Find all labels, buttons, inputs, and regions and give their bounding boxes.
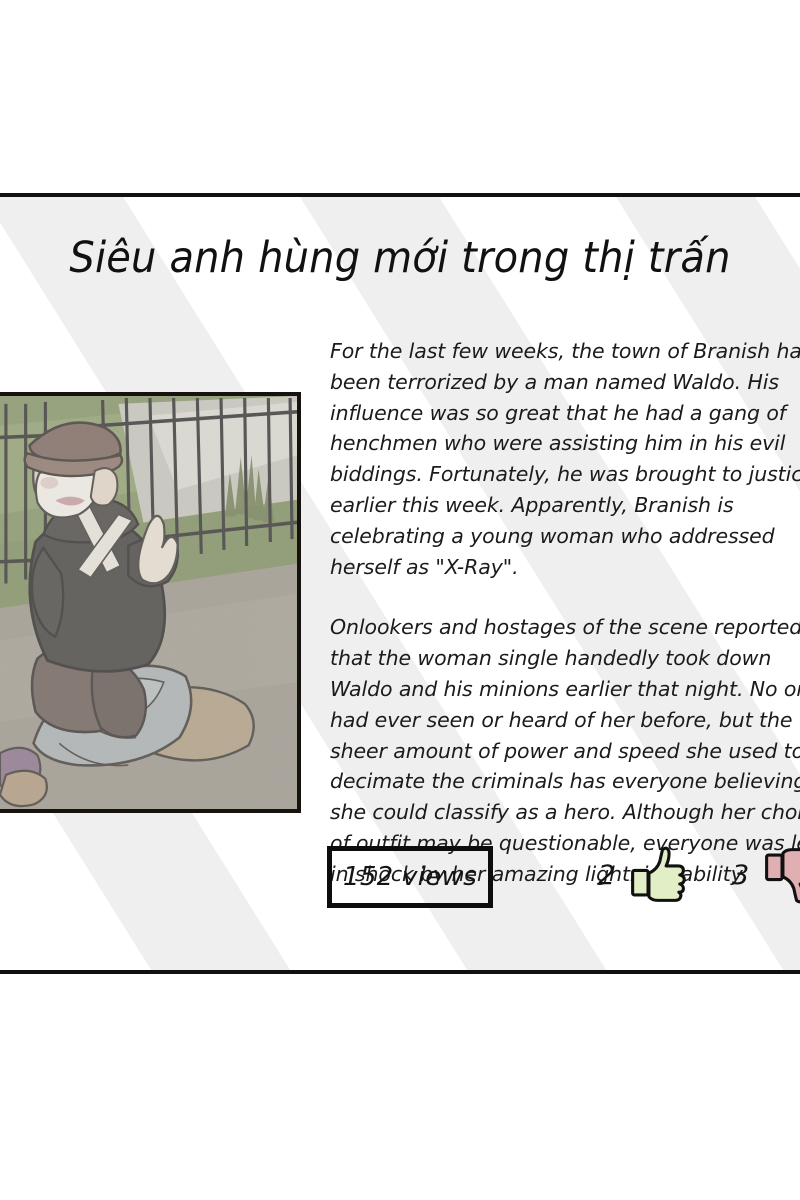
article-paragraph-1: For the last few weeks, the town of Bran… [330, 336, 800, 582]
views-counter: 152 views [327, 846, 493, 908]
article-illustration [0, 392, 301, 813]
like-count: 2 [598, 860, 615, 891]
thumbs-up-icon[interactable] [629, 846, 687, 904]
dislike-control[interactable]: 3 [732, 846, 800, 904]
like-control[interactable]: 2 [598, 846, 687, 904]
thumbs-down-icon[interactable] [763, 846, 800, 904]
article-body: For the last few weeks, the town of Bran… [330, 336, 800, 890]
dislike-count: 3 [732, 860, 749, 891]
masked-hero-illustration [0, 396, 297, 811]
webtoon-page: Siêu anh hùng mới trong thị trấn [0, 0, 800, 1200]
views-label: 152 views [343, 862, 477, 892]
page-title: Siêu anh hùng mới trong thị trấn [28, 232, 772, 284]
